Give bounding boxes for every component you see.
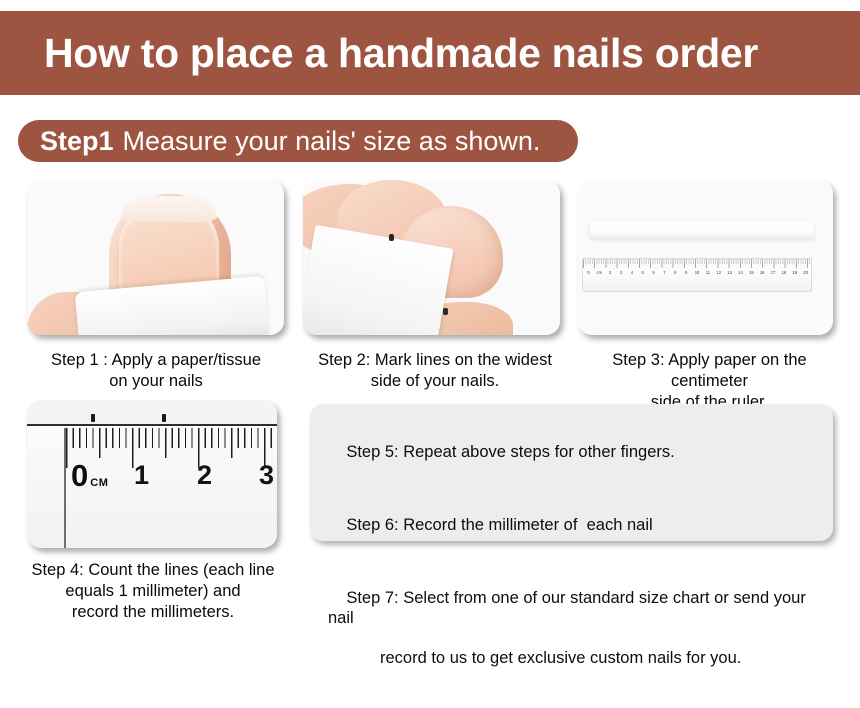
photo-card-step3: 0 cm 2 3 4 5 6 7 8 9 10 11 12 13 14 15 1… [578,180,833,335]
caption-step4-line3: record the millimeters. [8,602,298,623]
ruler-num-11: 11 [702,269,713,279]
ruler-num-14: 14 [735,269,746,279]
ruler-num-18: 18 [778,269,789,279]
caption-step1-line1: Step 1 : Apply a paper/tissue [10,350,302,371]
caption-step2-line1: Step 2: Mark lines on the widest [295,350,575,371]
ruler-num-12: 12 [713,269,724,279]
ruler-num-10: 10 [692,269,703,279]
ruler-num-3: 3 [616,269,627,279]
step6-text: Step 6: Record the millimeter of each na… [346,516,652,534]
steps-instruction-box: Step 5: Repeat above steps for other fin… [310,404,833,541]
ruler-num-5: 5 [637,269,648,279]
caption-step4: Step 4: Count the lines (each line equal… [8,560,298,623]
ruler-num-15: 15 [746,269,757,279]
caption-step2-line2: side of your nails. [295,371,575,392]
step1-label: Step1 [40,126,114,157]
ruler-num-13: 13 [724,269,735,279]
caption-step1-line2: on your nails [10,371,302,392]
photo-card-step1 [27,180,284,335]
ruler-zero-label: 0 [71,460,88,491]
ruler-num-7: 7 [659,269,670,279]
photo-card-step2 [303,180,560,335]
step1-instruction: Measure your nails' size as shown. [123,126,541,157]
step6-line: Step 6: Record the millimeter of each na… [328,495,813,555]
step7-text: Step 7: Select from one of our standard … [328,589,810,627]
ruler-mark-3: 3 [259,460,274,491]
step5-text: Step 5: Repeat above steps for other fin… [346,443,674,461]
mark-dot-right [162,414,166,422]
ruler-number-row: 0 cm 2 3 4 5 6 7 8 9 10 11 12 13 14 15 1… [583,269,811,279]
ruler-zero-group: 0 CM [71,460,108,491]
caption-step4-line1: Step 4: Count the lines (each line [8,560,298,581]
ruler-num-9: 9 [681,269,692,279]
ruler-num-16: 16 [757,269,768,279]
ruler-num-0: 0 [583,269,594,279]
ruler-num-6: 6 [648,269,659,279]
ruler-mark-1: 1 [134,460,149,491]
caption-step4-line2: equals 1 millimeter) and [8,581,298,602]
mark-dot-bottom [443,308,448,315]
step7-line: Step 7: Select from one of our standard … [328,568,813,708]
ruler-shape: 0 cm 2 3 4 5 6 7 8 9 10 11 12 13 14 15 1… [582,258,812,292]
ruler-num-4: 4 [626,269,637,279]
header-bar: How to place a handmade nails order [0,11,860,95]
ruler-mm-ticks [583,259,811,264]
ruler-top-edge [27,424,277,426]
paper-strip-shape [590,222,814,238]
step1-banner: Step1 Measure your nails' size as shown. [18,120,578,162]
ruler-num-8: 8 [670,269,681,279]
ruler-mark-2: 2 [197,460,212,491]
photo-card-step4: 0 CM 1 2 3 [27,400,277,548]
ruler-num-19: 19 [789,269,800,279]
caption-step2: Step 2: Mark lines on the widest side of… [295,350,575,392]
caption-step1: Step 1 : Apply a paper/tissue on your na… [10,350,302,392]
page-title: How to place a handmade nails order [0,30,758,77]
nail-tip-shape [121,196,217,222]
caption-step3-line1: Step 3: Apply paper on the centimeter [572,350,847,392]
ruler-num-20: 20 [800,269,811,279]
ruler-num-2: 2 [605,269,616,279]
ruler-unit-label: CM [90,477,108,489]
mark-dot-top [389,234,394,241]
step5-line: Step 5: Repeat above steps for other fin… [328,422,813,482]
ruler-num-17: 17 [768,269,779,279]
step7-continuation: record to us to get exclusive custom nai… [328,648,813,668]
ruler-num-cm: cm [594,269,605,279]
mark-dot-left [91,414,95,422]
